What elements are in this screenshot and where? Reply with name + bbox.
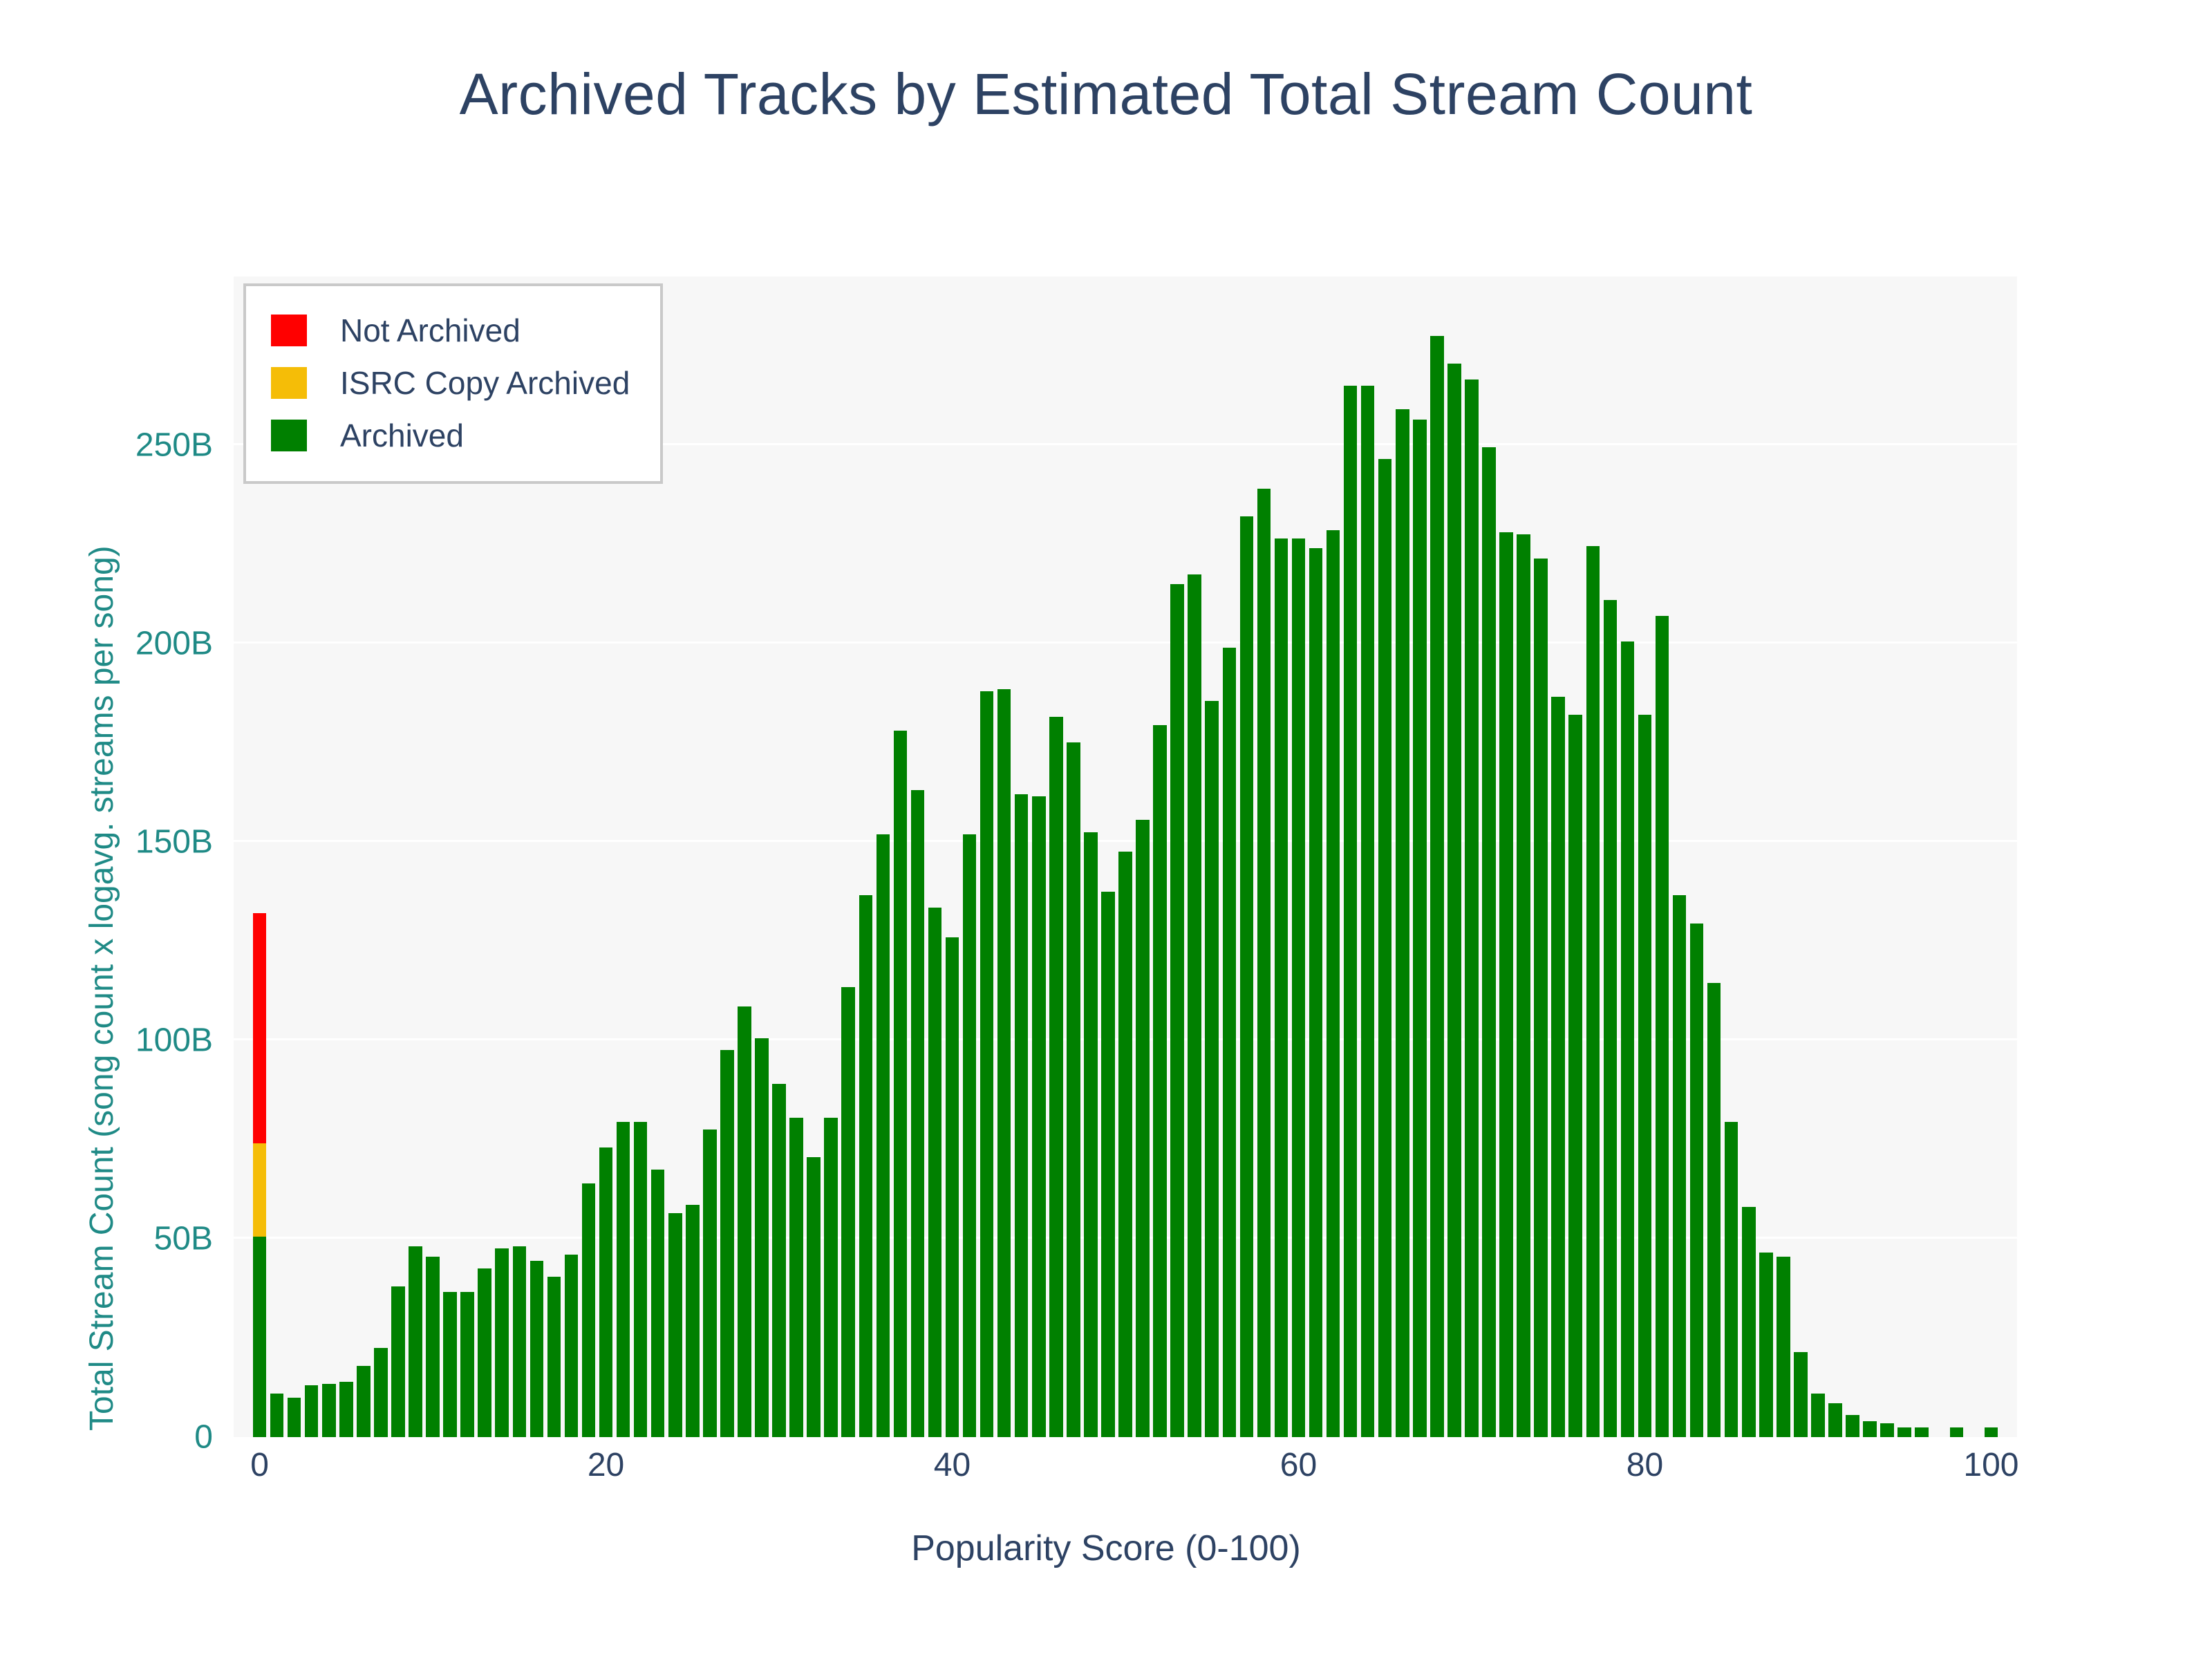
bar-stack[interactable] bbox=[686, 1205, 700, 1437]
bar-segment[interactable] bbox=[1811, 1394, 1825, 1437]
bar-stack[interactable] bbox=[460, 1292, 474, 1437]
bar-segment[interactable] bbox=[1430, 336, 1444, 1437]
bar-stack[interactable] bbox=[617, 1122, 630, 1437]
bar-stack[interactable] bbox=[1551, 697, 1565, 1437]
bar-stack[interactable] bbox=[755, 1038, 769, 1437]
bar-stack[interactable] bbox=[374, 1348, 388, 1437]
y-axis-label: Total Stream Count (song count x logavg.… bbox=[83, 545, 121, 1431]
bar-stack[interactable] bbox=[270, 1394, 284, 1437]
bar-stack[interactable] bbox=[305, 1385, 319, 1437]
bar-stack[interactable] bbox=[478, 1268, 491, 1437]
bar-segment[interactable] bbox=[426, 1257, 440, 1437]
bar-stack[interactable] bbox=[1517, 534, 1530, 1437]
bar-stack[interactable] bbox=[409, 1246, 422, 1437]
bar-stack[interactable] bbox=[1673, 895, 1687, 1437]
bar-stack[interactable] bbox=[841, 987, 855, 1438]
bar-stack[interactable] bbox=[582, 1183, 596, 1437]
bar-stack[interactable] bbox=[1863, 1421, 1877, 1437]
x-tick-label: 20 bbox=[537, 1446, 675, 1484]
bar-segment[interactable] bbox=[1447, 364, 1461, 1437]
bar-segment[interactable] bbox=[1101, 892, 1115, 1437]
bar-segment[interactable] bbox=[1794, 1352, 1808, 1437]
bar-segment[interactable] bbox=[1032, 796, 1046, 1437]
bar-stack[interactable] bbox=[288, 1398, 301, 1437]
legend-label: Not Archived bbox=[340, 312, 521, 349]
bar-segment[interactable] bbox=[859, 895, 873, 1437]
bar-segment[interactable] bbox=[1777, 1257, 1790, 1437]
chart-figure: Archived Tracks by Estimated Total Strea… bbox=[0, 0, 2212, 1659]
bar-segment[interactable] bbox=[253, 913, 267, 1143]
bar-segment[interactable] bbox=[582, 1183, 596, 1437]
legend-label: Archived bbox=[340, 417, 464, 454]
bar-segment[interactable] bbox=[1690, 924, 1704, 1437]
bar-segment[interactable] bbox=[1828, 1403, 1842, 1437]
bar-stack[interactable] bbox=[339, 1382, 353, 1437]
bar-stack[interactable] bbox=[1015, 794, 1029, 1437]
bar-stack[interactable] bbox=[1725, 1122, 1738, 1437]
chart-legend: Not ArchivedISRC Copy ArchivedArchived bbox=[243, 283, 663, 484]
bar-segment[interactable] bbox=[1275, 538, 1288, 1437]
bar-segment[interactable] bbox=[1621, 641, 1635, 1437]
bar-segment[interactable] bbox=[1742, 1207, 1756, 1437]
bar-stack[interactable] bbox=[1777, 1257, 1790, 1437]
bar-stack[interactable] bbox=[928, 908, 942, 1437]
bar-stack[interactable] bbox=[391, 1286, 405, 1437]
bar-segment[interactable] bbox=[305, 1385, 319, 1437]
bar-stack[interactable] bbox=[859, 895, 873, 1437]
bar-segment[interactable] bbox=[253, 1143, 267, 1237]
bar-stack[interactable] bbox=[1413, 420, 1427, 1437]
bar-stack[interactable] bbox=[1327, 530, 1340, 1437]
bar-segment[interactable] bbox=[1534, 559, 1548, 1437]
bar-segment[interactable] bbox=[963, 834, 977, 1438]
bar-segment[interactable] bbox=[1915, 1427, 1929, 1437]
bar-stack[interactable] bbox=[513, 1246, 527, 1437]
bar-segment[interactable] bbox=[1344, 386, 1358, 1437]
bar-segment[interactable] bbox=[807, 1157, 821, 1437]
bar-segment[interactable] bbox=[755, 1038, 769, 1437]
y-tick-label: 250B bbox=[6, 426, 213, 464]
legend-item[interactable]: Not Archived bbox=[271, 304, 630, 357]
bar-segment[interactable] bbox=[738, 1006, 751, 1437]
bar-stack[interactable] bbox=[565, 1255, 579, 1437]
bar-stack[interactable] bbox=[1344, 386, 1358, 1437]
bar-stack[interactable] bbox=[703, 1130, 717, 1437]
bar-segment[interactable] bbox=[1118, 852, 1132, 1437]
bar-stack[interactable] bbox=[634, 1122, 648, 1437]
bar-segment[interactable] bbox=[634, 1122, 648, 1437]
bar-stack[interactable] bbox=[1604, 600, 1618, 1437]
x-tick-label: 100 bbox=[1922, 1446, 2060, 1484]
bar-segment[interactable] bbox=[1153, 725, 1167, 1437]
bar-segment[interactable] bbox=[1170, 584, 1184, 1437]
bar-stack[interactable] bbox=[1759, 1253, 1773, 1437]
bar-segment[interactable] bbox=[322, 1384, 336, 1437]
x-tick-label: 80 bbox=[1575, 1446, 1714, 1484]
bar-stack[interactable] bbox=[495, 1248, 509, 1437]
bar-segment[interactable] bbox=[1517, 534, 1530, 1437]
bar-stack[interactable] bbox=[772, 1084, 786, 1437]
bar-segment[interactable] bbox=[1188, 574, 1201, 1437]
bar-segment[interactable] bbox=[288, 1398, 301, 1437]
bar-segment[interactable] bbox=[1292, 538, 1306, 1437]
bar-stack[interactable] bbox=[1638, 715, 1652, 1437]
bar-stack[interactable] bbox=[1534, 559, 1548, 1437]
bar-stack[interactable] bbox=[1880, 1423, 1894, 1437]
bar-stack[interactable] bbox=[824, 1118, 838, 1437]
bar-segment[interactable] bbox=[894, 731, 908, 1437]
bar-segment[interactable] bbox=[772, 1084, 786, 1437]
bar-segment[interactable] bbox=[357, 1366, 371, 1437]
bar-stack[interactable] bbox=[1950, 1427, 1964, 1437]
bar-stack[interactable] bbox=[1084, 832, 1098, 1437]
bar-segment[interactable] bbox=[547, 1277, 561, 1437]
bar-stack[interactable] bbox=[253, 913, 267, 1437]
bar-segment[interactable] bbox=[1880, 1423, 1894, 1437]
bar-stack[interactable] bbox=[1361, 386, 1375, 1437]
bar-segment[interactable] bbox=[530, 1261, 544, 1437]
bar-stack[interactable] bbox=[720, 1050, 734, 1437]
bar-segment[interactable] bbox=[409, 1246, 422, 1437]
bar-segment[interactable] bbox=[1707, 983, 1721, 1437]
bar-segment[interactable] bbox=[270, 1394, 284, 1437]
bar-segment[interactable] bbox=[1257, 489, 1271, 1437]
bar-stack[interactable] bbox=[1101, 892, 1115, 1437]
bar-segment[interactable] bbox=[1897, 1427, 1911, 1437]
bar-stack[interactable] bbox=[1707, 983, 1721, 1437]
bar-stack[interactable] bbox=[1811, 1394, 1825, 1437]
bar-segment[interactable] bbox=[841, 987, 855, 1438]
bar-segment[interactable] bbox=[1015, 794, 1029, 1437]
bar-stack[interactable] bbox=[738, 1006, 751, 1437]
bar-segment[interactable] bbox=[565, 1255, 579, 1437]
bar-segment[interactable] bbox=[1482, 447, 1496, 1437]
bar-stack[interactable] bbox=[1223, 648, 1237, 1437]
legend-swatch-icon bbox=[271, 315, 307, 346]
bar-stack[interactable] bbox=[1586, 546, 1600, 1437]
bar-stack[interactable] bbox=[1309, 548, 1323, 1437]
bar-stack[interactable] bbox=[1170, 584, 1184, 1437]
bar-stack[interactable] bbox=[1568, 715, 1582, 1437]
bar-stack[interactable] bbox=[1828, 1403, 1842, 1437]
bar-stack[interactable] bbox=[1465, 379, 1479, 1437]
bar-segment[interactable] bbox=[1361, 386, 1375, 1437]
bar-segment[interactable] bbox=[391, 1286, 405, 1437]
bar-stack[interactable] bbox=[1656, 616, 1669, 1437]
bar-segment[interactable] bbox=[686, 1205, 700, 1437]
bar-stack[interactable] bbox=[877, 834, 890, 1438]
bar-segment[interactable] bbox=[1327, 530, 1340, 1437]
bar-segment[interactable] bbox=[1863, 1421, 1877, 1437]
bar-stack[interactable] bbox=[1205, 701, 1219, 1437]
bar-segment[interactable] bbox=[1413, 420, 1427, 1437]
bar-segment[interactable] bbox=[1638, 715, 1652, 1437]
bar-stack[interactable] bbox=[1378, 459, 1392, 1437]
bar-segment[interactable] bbox=[1950, 1427, 1964, 1437]
bar-stack[interactable] bbox=[1897, 1427, 1911, 1437]
bar-stack[interactable] bbox=[1447, 364, 1461, 1437]
bar-segment[interactable] bbox=[928, 908, 942, 1437]
x-axis-label: Popularity Score (0-100) bbox=[0, 1528, 2212, 1569]
bar-stack[interactable] bbox=[1275, 538, 1288, 1437]
bar-stack[interactable] bbox=[1188, 574, 1201, 1437]
bar-stack[interactable] bbox=[1690, 924, 1704, 1437]
bar-segment[interactable] bbox=[1846, 1415, 1859, 1437]
bar-stack[interactable] bbox=[1153, 725, 1167, 1437]
bar-segment[interactable] bbox=[1136, 820, 1150, 1437]
legend-item[interactable]: ISRC Copy Archived bbox=[271, 357, 630, 409]
bar-segment[interactable] bbox=[824, 1118, 838, 1437]
bar-stack[interactable] bbox=[911, 790, 925, 1437]
bar-stack[interactable] bbox=[963, 834, 977, 1438]
bar-segment[interactable] bbox=[1673, 895, 1687, 1437]
bar-stack[interactable] bbox=[1499, 532, 1513, 1437]
bar-stack[interactable] bbox=[1396, 409, 1409, 1437]
bar-stack[interactable] bbox=[599, 1147, 613, 1437]
bar-stack[interactable] bbox=[1049, 717, 1063, 1437]
bar-segment[interactable] bbox=[460, 1292, 474, 1437]
bar-stack[interactable] bbox=[1067, 742, 1080, 1437]
bar-segment[interactable] bbox=[374, 1348, 388, 1437]
bar-segment[interactable] bbox=[1309, 548, 1323, 1437]
x-tick-label: 60 bbox=[1229, 1446, 1367, 1484]
bar-stack[interactable] bbox=[1794, 1352, 1808, 1437]
bar-stack[interactable] bbox=[1032, 796, 1046, 1437]
bar-stack[interactable] bbox=[1136, 820, 1150, 1437]
bar-segment[interactable] bbox=[513, 1246, 527, 1437]
bar-stack[interactable] bbox=[980, 691, 994, 1437]
bar-segment[interactable] bbox=[599, 1147, 613, 1437]
bar-segment[interactable] bbox=[253, 1237, 267, 1437]
bar-segment[interactable] bbox=[703, 1130, 717, 1437]
bar-segment[interactable] bbox=[946, 937, 959, 1437]
bar-stack[interactable] bbox=[1292, 538, 1306, 1437]
bar-stack[interactable] bbox=[789, 1118, 803, 1437]
bar-segment[interactable] bbox=[1223, 648, 1237, 1437]
legend-item[interactable]: Archived bbox=[271, 409, 630, 462]
bar-segment[interactable] bbox=[617, 1122, 630, 1437]
chart-title: Archived Tracks by Estimated Total Strea… bbox=[0, 61, 2212, 128]
x-tick-label: 0 bbox=[191, 1446, 329, 1484]
bar-stack[interactable] bbox=[668, 1213, 682, 1437]
bar-stack[interactable] bbox=[1621, 641, 1635, 1437]
bar-stack[interactable] bbox=[1240, 516, 1254, 1437]
bar-stack[interactable] bbox=[946, 937, 959, 1437]
bar-stack[interactable] bbox=[322, 1384, 336, 1437]
bar-segment[interactable] bbox=[651, 1170, 665, 1437]
bar-segment[interactable] bbox=[789, 1118, 803, 1437]
bar-stack[interactable] bbox=[651, 1170, 665, 1437]
bar-segment[interactable] bbox=[495, 1248, 509, 1437]
bar-stack[interactable] bbox=[1482, 447, 1496, 1437]
bar-stack[interactable] bbox=[1846, 1415, 1859, 1437]
bar-segment[interactable] bbox=[911, 790, 925, 1437]
bar-segment[interactable] bbox=[1551, 697, 1565, 1437]
bar-stack[interactable] bbox=[547, 1277, 561, 1437]
bar-segment[interactable] bbox=[1604, 600, 1618, 1437]
bar-segment[interactable] bbox=[1049, 717, 1063, 1437]
bar-stack[interactable] bbox=[894, 731, 908, 1437]
bar-stack[interactable] bbox=[997, 689, 1011, 1437]
bar-stack[interactable] bbox=[1430, 336, 1444, 1437]
bar-segment[interactable] bbox=[997, 689, 1011, 1437]
bar-stack[interactable] bbox=[443, 1292, 457, 1437]
bar-segment[interactable] bbox=[1465, 379, 1479, 1437]
legend-label: ISRC Copy Archived bbox=[340, 364, 630, 402]
bar-stack[interactable] bbox=[807, 1157, 821, 1437]
bar-stack[interactable] bbox=[426, 1257, 440, 1437]
bar-segment[interactable] bbox=[1396, 409, 1409, 1437]
legend-swatch-icon bbox=[271, 420, 307, 451]
bar-segment[interactable] bbox=[339, 1382, 353, 1437]
bar-segment[interactable] bbox=[1067, 742, 1080, 1437]
bar-segment[interactable] bbox=[443, 1292, 457, 1437]
bar-segment[interactable] bbox=[1725, 1122, 1738, 1437]
bar-segment[interactable] bbox=[1568, 715, 1582, 1437]
bar-segment[interactable] bbox=[980, 691, 994, 1437]
bar-segment[interactable] bbox=[1205, 701, 1219, 1437]
bar-segment[interactable] bbox=[1378, 459, 1392, 1437]
bar-segment[interactable] bbox=[478, 1268, 491, 1437]
bar-stack[interactable] bbox=[1257, 489, 1271, 1437]
bar-segment[interactable] bbox=[668, 1213, 682, 1437]
bar-segment[interactable] bbox=[1759, 1253, 1773, 1437]
bar-segment[interactable] bbox=[1240, 516, 1254, 1437]
x-tick-label: 40 bbox=[883, 1446, 1022, 1484]
bar-segment[interactable] bbox=[877, 834, 890, 1438]
bar-segment[interactable] bbox=[1499, 532, 1513, 1437]
bar-stack[interactable] bbox=[357, 1366, 371, 1437]
legend-swatch-icon bbox=[271, 367, 307, 399]
bar-stack[interactable] bbox=[1915, 1427, 1929, 1437]
bar-segment[interactable] bbox=[1586, 546, 1600, 1437]
bar-stack[interactable] bbox=[1985, 1427, 1998, 1437]
bar-stack[interactable] bbox=[1742, 1207, 1756, 1437]
bar-stack[interactable] bbox=[1118, 852, 1132, 1437]
bar-segment[interactable] bbox=[1656, 616, 1669, 1437]
bar-segment[interactable] bbox=[1084, 832, 1098, 1437]
bar-segment[interactable] bbox=[1985, 1427, 1998, 1437]
bar-stack[interactable] bbox=[530, 1261, 544, 1437]
bar-segment[interactable] bbox=[720, 1050, 734, 1437]
